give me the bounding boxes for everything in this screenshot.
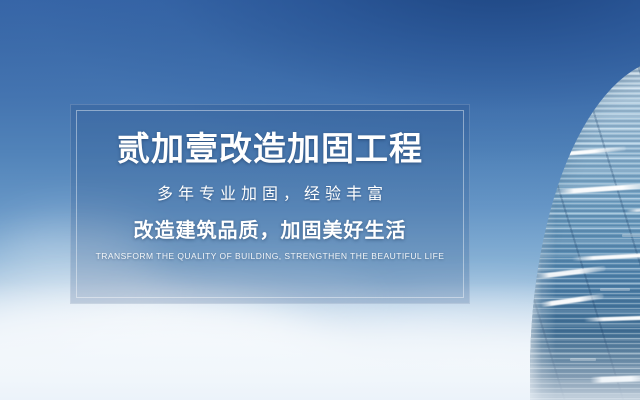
glass-skyscraper: [512, 0, 640, 400]
skyscraper-body: [530, 58, 640, 400]
banner-subline: 多年专业加固，经验丰富: [152, 187, 388, 203]
banner-english-tagline: TRANSFORM THE QUALITY OF BUILDING, STREN…: [96, 252, 445, 261]
headline-panel: 贰加壹改造加固工程 多年专业加固，经验丰富 改造建筑品质，加固美好生活 TRAN…: [70, 104, 470, 304]
facade-window: [600, 288, 630, 291]
panel-content: 贰加壹改造加固工程 多年专业加固，经验丰富 改造建筑品质，加固美好生活 TRAN…: [70, 104, 470, 304]
banner-headline: 贰加壹改造加固工程: [117, 132, 423, 165]
banner-tagline: 改造建筑品质，加固美好生活: [134, 221, 407, 241]
skyscraper-base-haze: [530, 330, 640, 400]
hero-banner: 贰加壹改造加固工程 多年专业加固，经验丰富 改造建筑品质，加固美好生活 TRAN…: [0, 0, 640, 400]
facade-window: [622, 234, 640, 237]
